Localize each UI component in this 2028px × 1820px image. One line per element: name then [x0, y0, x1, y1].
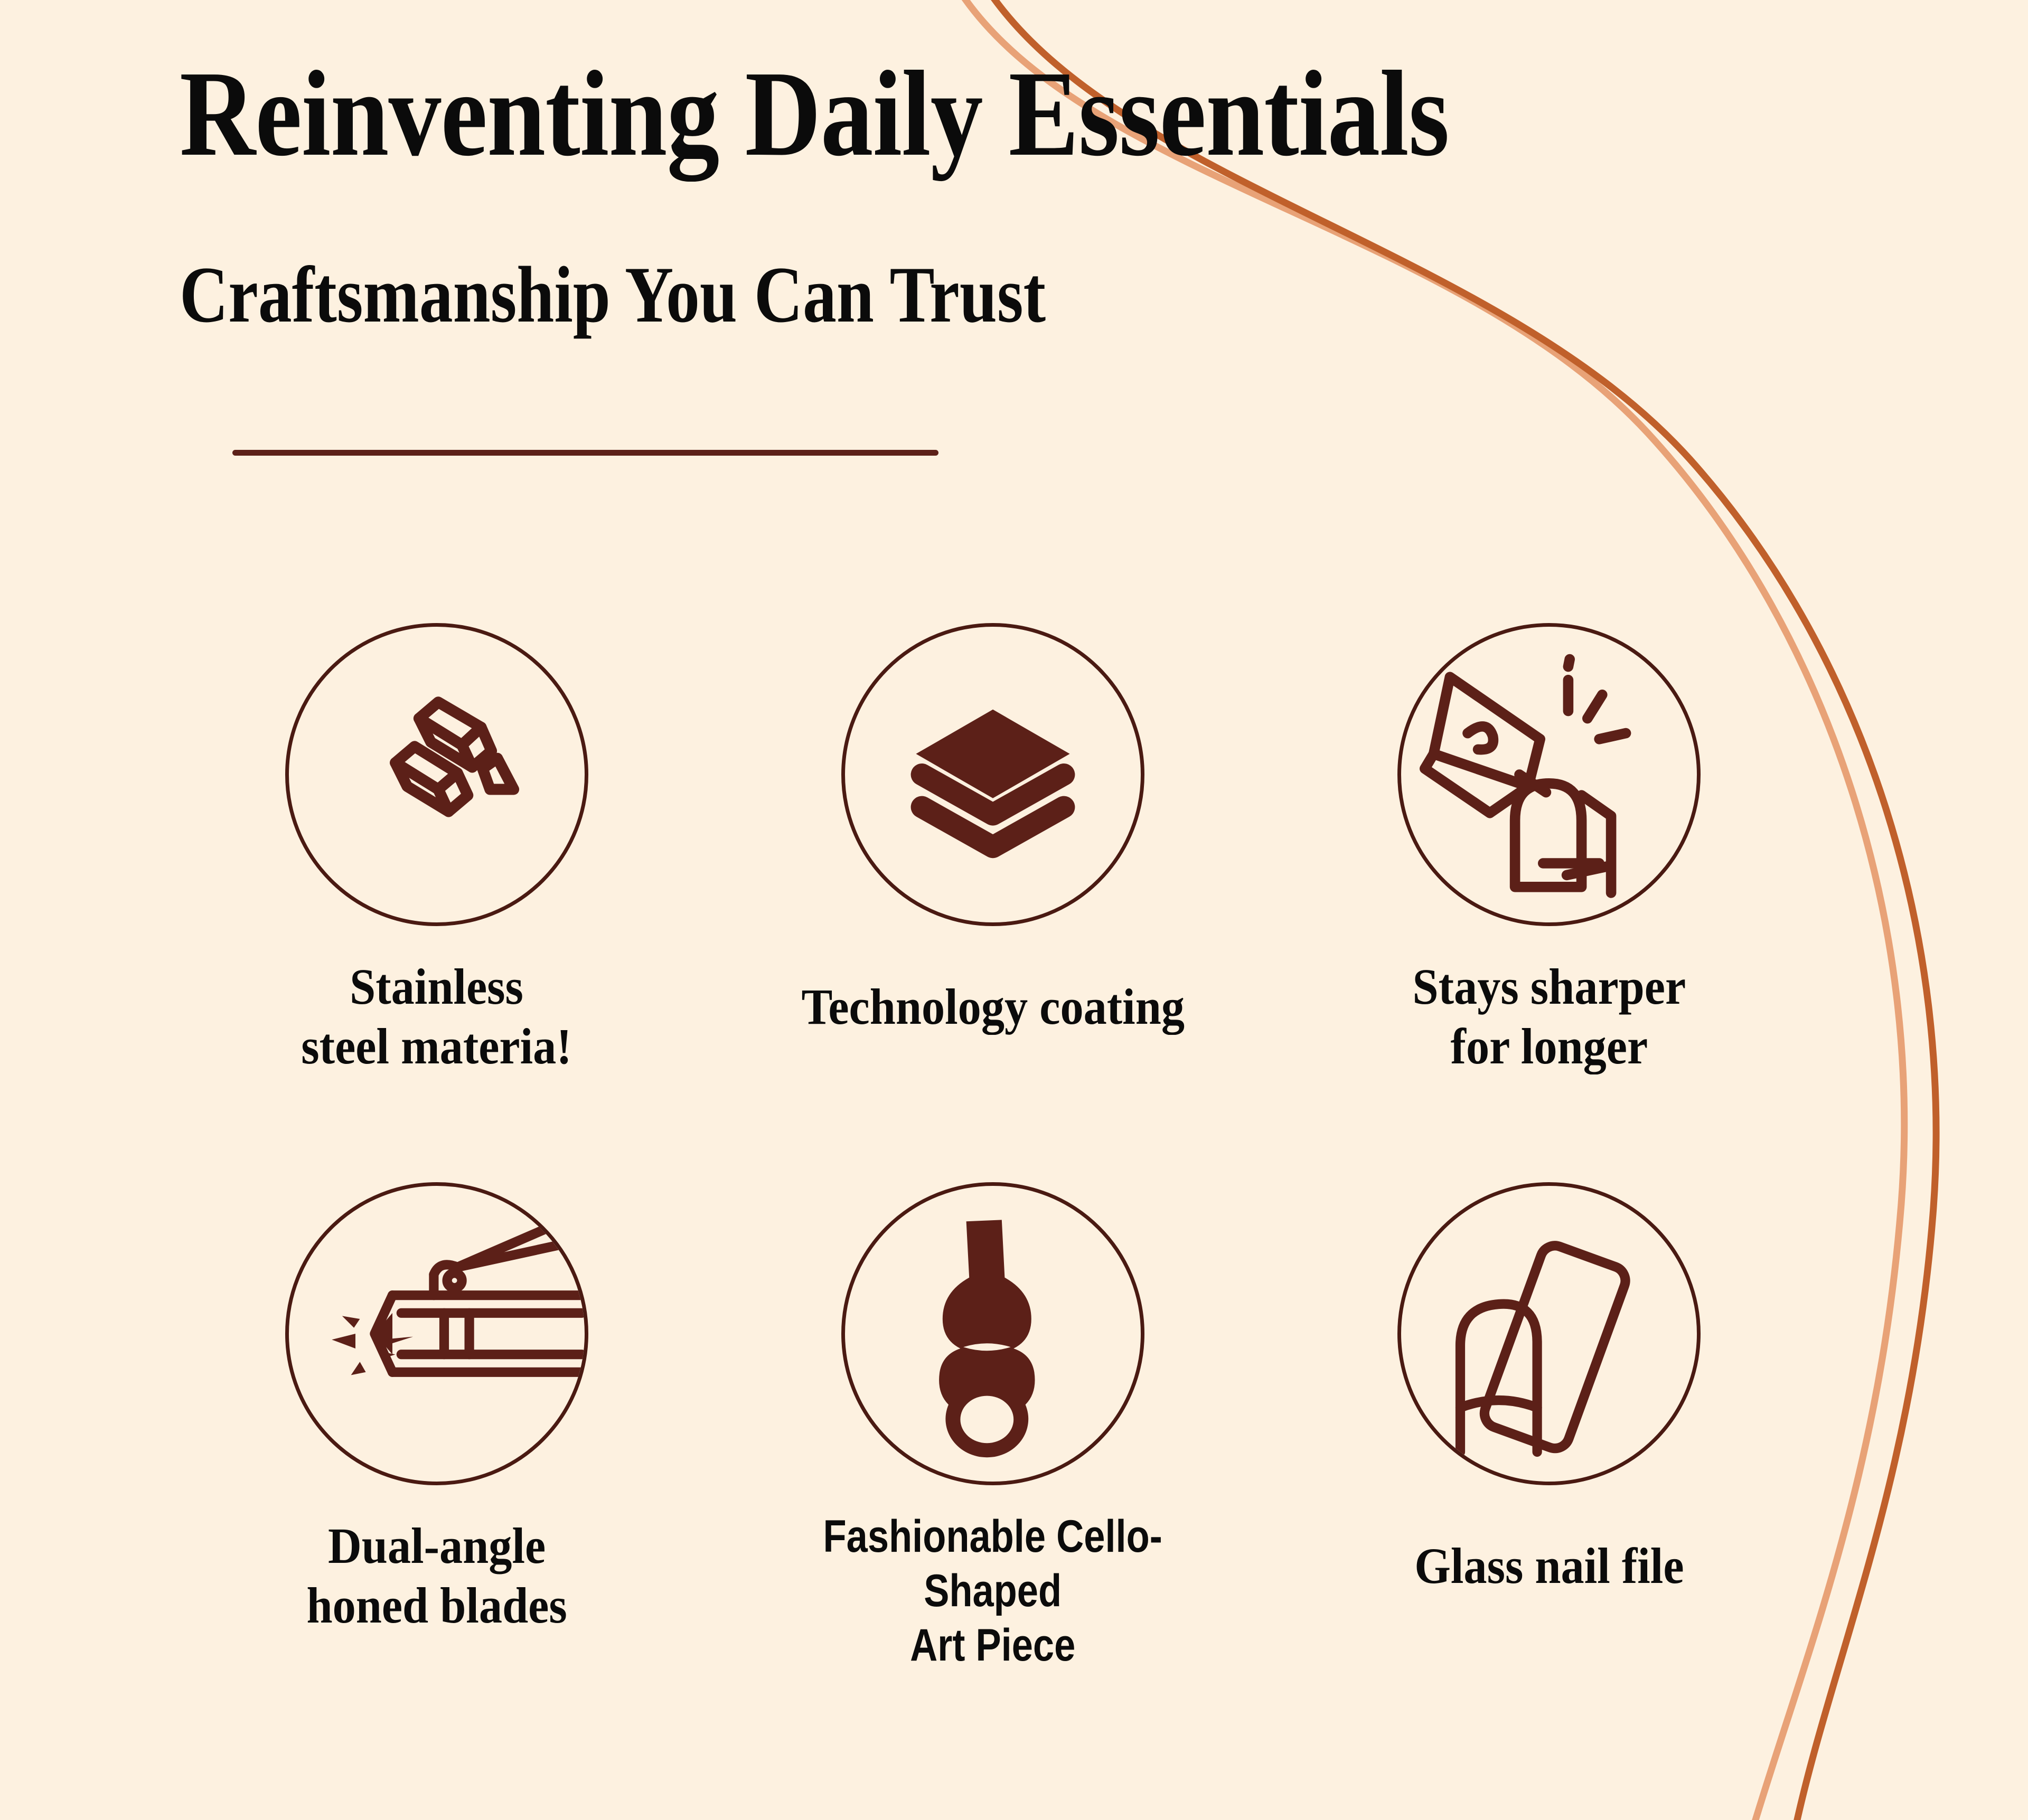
feature-item-stainless-steel: Stainless steel materia!: [158, 623, 715, 1077]
icon-circle: [841, 623, 1144, 926]
feature-item-stays-sharper: Stays sharper for longer: [1271, 623, 1827, 1077]
icon-circle: [841, 1182, 1144, 1485]
feature-label-line: Glass nail file: [1414, 1536, 1684, 1596]
nail-clipper-blade-spark-icon: [289, 1186, 585, 1482]
icon-circle: [1397, 623, 1701, 926]
header-divider: [232, 450, 938, 456]
metal-bars-icon: [289, 627, 585, 922]
feature-item-cello-art-piece: Fashionable Cello-Shaped Art Piece: [715, 1182, 1271, 1673]
icon-circle: [285, 1182, 588, 1485]
feature-label-line: honed blades: [306, 1576, 567, 1635]
feature-label-line: for longer: [1412, 1016, 1686, 1076]
header-block: Reinventing Daily Essentials Craftsmansh…: [180, 53, 1922, 335]
promo-poster: Reinventing Daily Essentials Craftsmansh…: [0, 0, 2028, 1820]
layers-icon: [845, 627, 1141, 922]
feature-label: Dual-angle honed blades: [306, 1516, 567, 1636]
feature-label-line: Stays sharper: [1412, 957, 1686, 1016]
feature-label-line: Fashionable Cello-Shaped: [759, 1510, 1227, 1618]
feature-label: Glass nail file: [1414, 1536, 1684, 1596]
feature-label: Stainless steel materia!: [301, 957, 571, 1077]
feature-grid: Stainless steel materia! Technology coat…: [158, 623, 1827, 1673]
feature-label: Technology coating: [801, 977, 1184, 1036]
feature-item-technology-coating: Technology coating: [715, 623, 1271, 1077]
page-title: Reinventing Daily Essentials: [180, 53, 1678, 175]
page-subtitle: Craftsmanship You Can Trust: [180, 175, 1644, 335]
feature-label-line: Dual-angle: [306, 1516, 567, 1576]
cello-bottle-opener-icon: [845, 1186, 1141, 1482]
feature-item-glass-nail-file: Glass nail file: [1271, 1182, 1827, 1673]
feature-label-line: Art Piece: [759, 1618, 1227, 1673]
glass-nail-file-icon: [1401, 1186, 1697, 1482]
nail-clipper-cutting-nail-icon: [1401, 627, 1697, 922]
icon-circle: [285, 623, 588, 926]
feature-label-line: Stainless: [301, 957, 571, 1016]
feature-label-line: Technology coating: [801, 977, 1184, 1036]
feature-label: Fashionable Cello-Shaped Art Piece: [759, 1510, 1227, 1673]
feature-item-dual-angle-blades: Dual-angle honed blades: [158, 1182, 715, 1673]
icon-circle: [1397, 1182, 1701, 1485]
feature-label: Stays sharper for longer: [1412, 957, 1686, 1077]
feature-label-line: steel materia!: [301, 1016, 571, 1076]
